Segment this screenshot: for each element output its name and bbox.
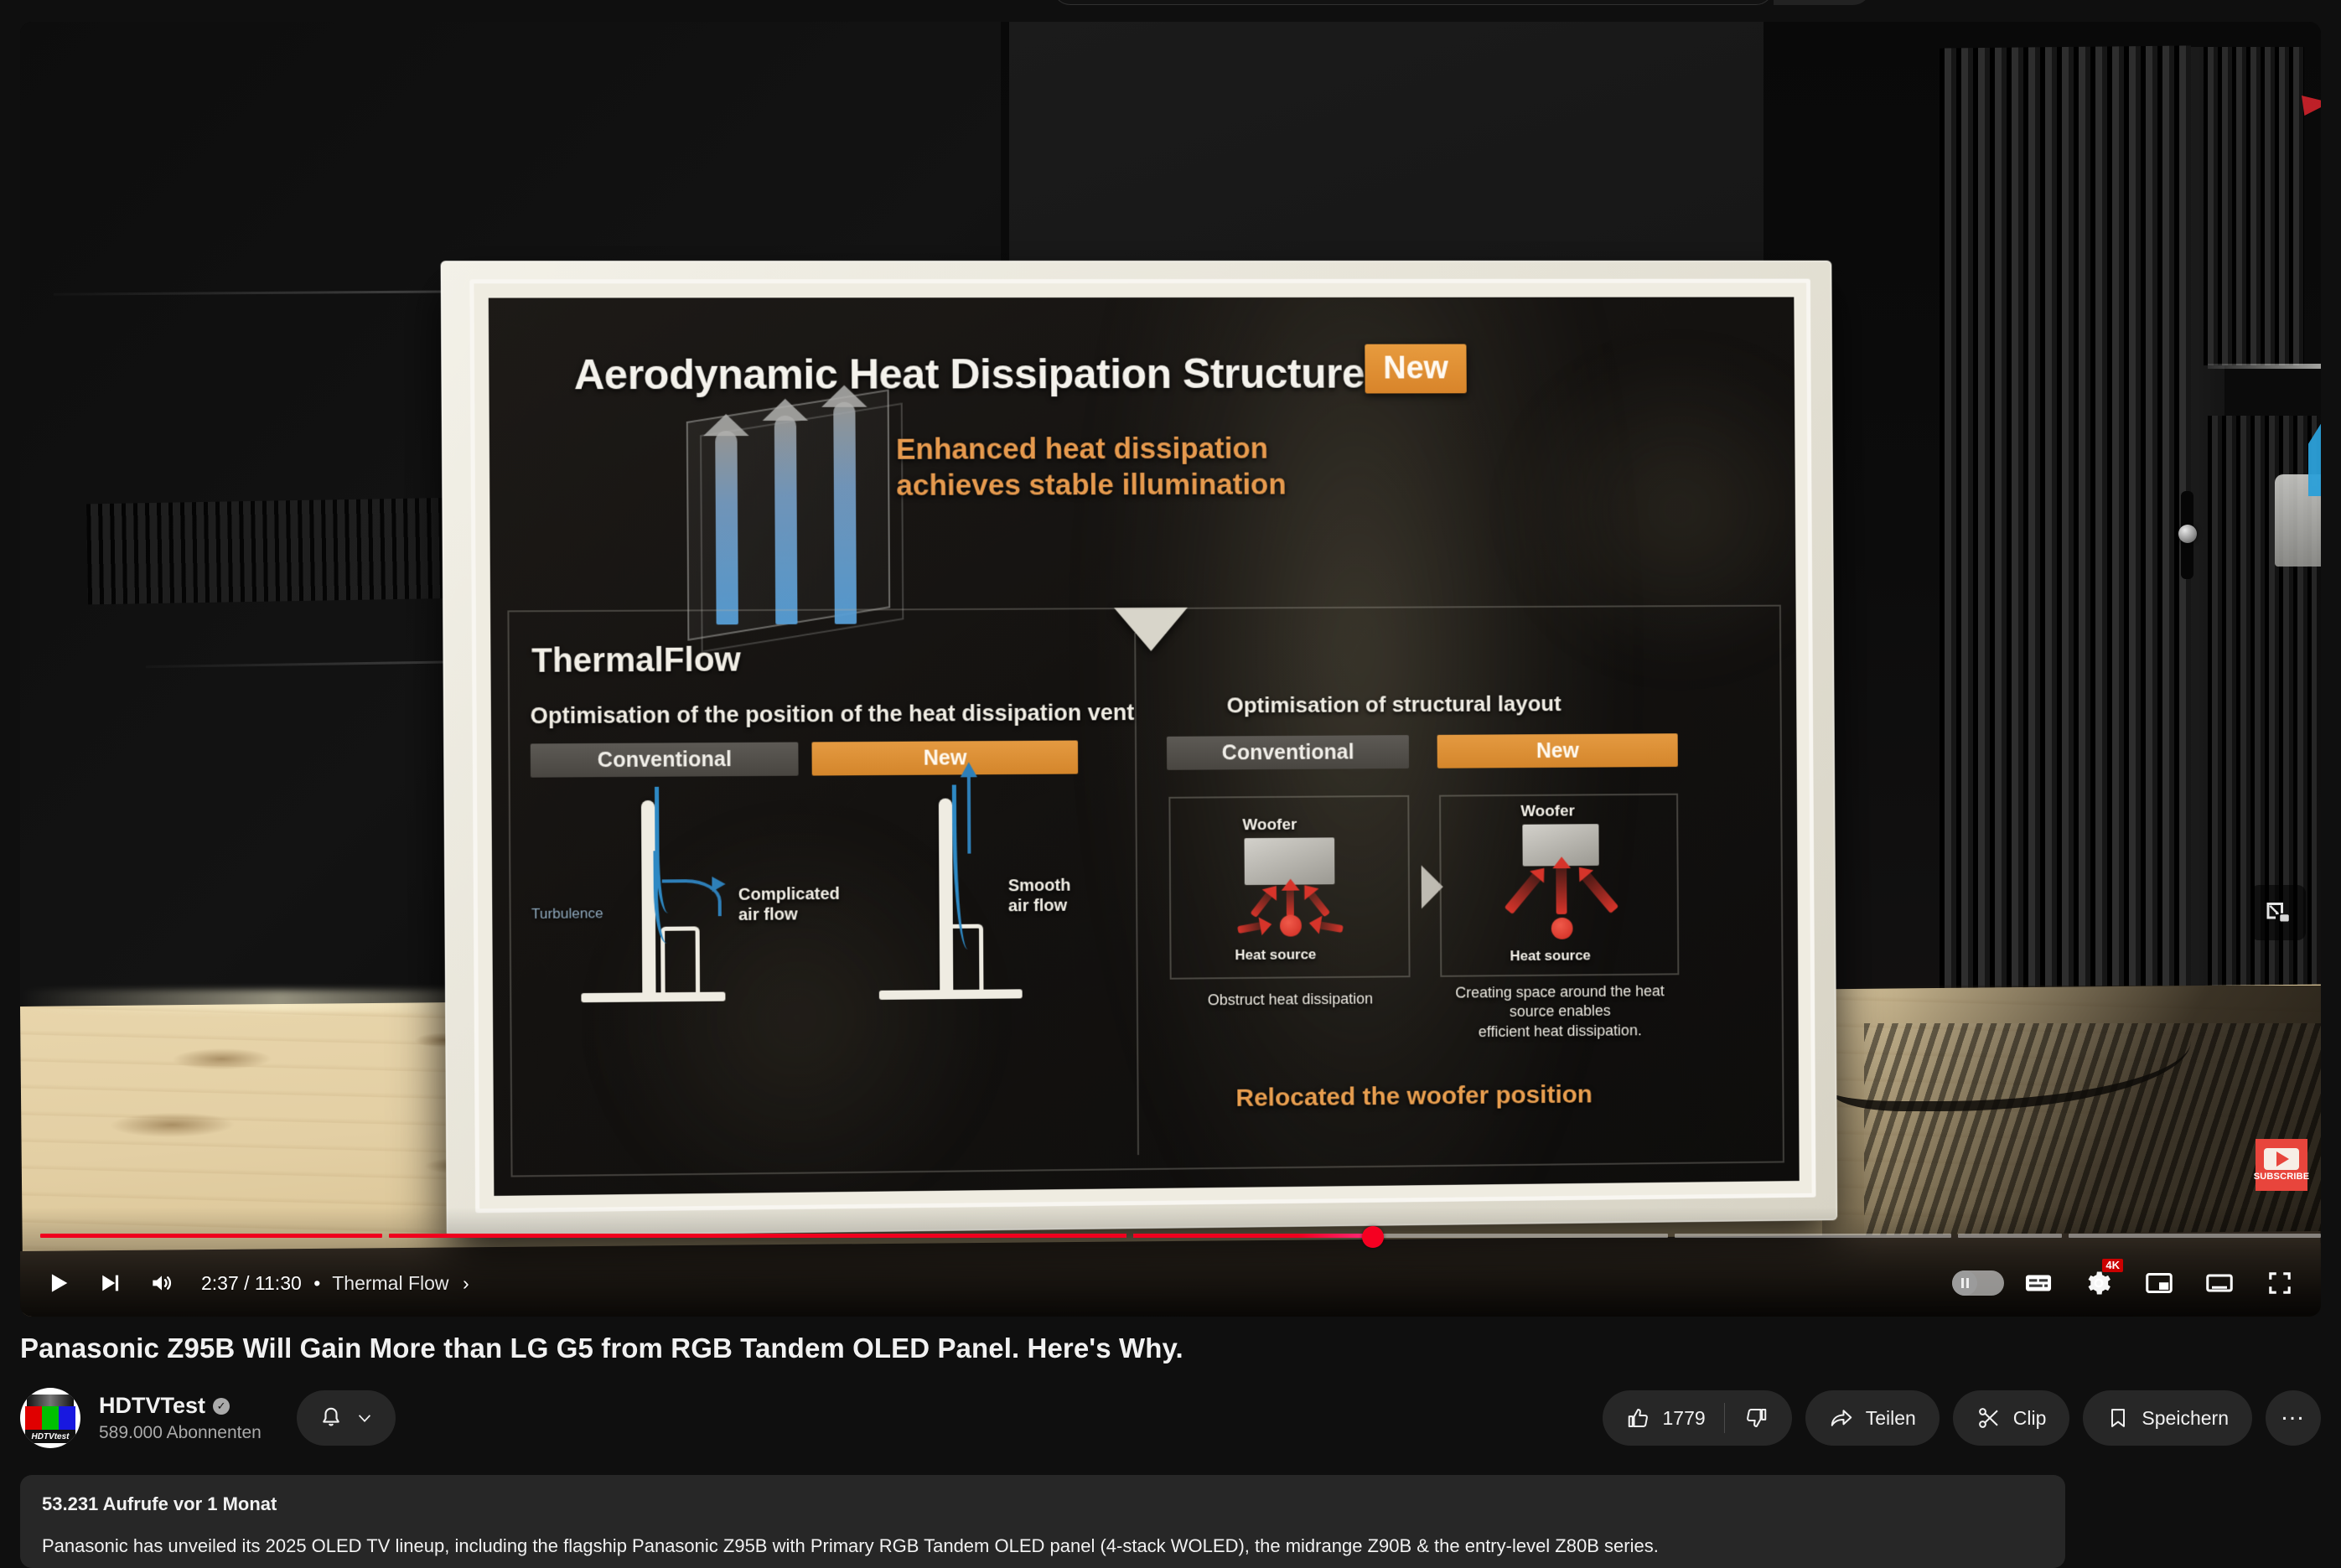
settings-button[interactable]: 4K (2073, 1257, 2125, 1309)
heat-ray (1237, 922, 1263, 934)
more-icon: … (2280, 1398, 2307, 1426)
panel-screw (2178, 525, 2197, 543)
video-frame: Aerodynamic Heat Dissipation Structure N… (20, 22, 2321, 1317)
video-title: Panasonic Z95B Will Gain More than LG G5… (20, 1333, 2321, 1364)
woofer-card-conventional: Woofer Heat source (1168, 795, 1410, 980)
volume-button[interactable] (136, 1257, 188, 1309)
subscriber-count: 589.000 Abonnenten (99, 1423, 262, 1443)
play-icon (2264, 1148, 2299, 1170)
gear-icon (2085, 1269, 2113, 1297)
quality-badge: 4K (2102, 1259, 2123, 1272)
bookmark-icon (2106, 1406, 2130, 1430)
progress-scrubber[interactable] (1362, 1226, 1384, 1248)
airflow-arrow-curved (662, 879, 722, 917)
share-button[interactable]: Teilen (1805, 1390, 1940, 1446)
left-chip-conventional: Conventional (531, 743, 799, 778)
notification-bell-button[interactable] (297, 1390, 396, 1446)
slide-subheading: Enhanced heat dissipation achieves stabl… (896, 432, 1287, 505)
background-ribbed-panel-upper (2204, 47, 2304, 365)
action-buttons: 1779 Teilen Clip (1603, 1386, 2321, 1450)
subheading-line-1: Enhanced heat dissipation (896, 432, 1287, 468)
fullscreen-icon (2266, 1269, 2294, 1297)
airflow-arrow-up (967, 773, 971, 853)
miniplayer-button[interactable] (2133, 1257, 2185, 1309)
heat-flow-graphic (686, 406, 891, 625)
owner-row: HDTVtest HDTVTest ✓ 589.000 Abonnenten (20, 1386, 2321, 1450)
label-turbulence: Turbulence (531, 905, 603, 923)
picture-in-picture-button[interactable] (2250, 885, 2306, 940)
control-button-row: 2:37 / 11:30 • Thermal Flow › (20, 1256, 2321, 1310)
woofer-box (1245, 837, 1335, 885)
share-icon (1829, 1405, 1854, 1431)
relocated-woofer-footer: Relocated the woofer position (1235, 1081, 1593, 1113)
search-input[interactable] (1053, 0, 1774, 5)
share-label: Teilen (1866, 1407, 1916, 1430)
right-section-heading: Optimisation of structural layout (1226, 691, 1561, 718)
progress-segment[interactable] (389, 1234, 1126, 1238)
theater-mode-button[interactable] (2193, 1257, 2245, 1309)
channel-name[interactable]: HDTVTest (99, 1393, 205, 1419)
heat-ray (1556, 866, 1567, 914)
action-divider (1724, 1403, 1725, 1433)
heat-ray (1505, 872, 1542, 914)
caption-new: Creating space around the heat source en… (1440, 981, 1679, 1042)
heat-ray (1287, 888, 1294, 917)
thumbs-up-icon (1626, 1405, 1651, 1431)
pip-icon (2263, 898, 2293, 928)
save-button[interactable]: Speichern (2083, 1390, 2252, 1446)
chevron-down-icon (355, 1409, 374, 1427)
progress-fill (40, 1234, 382, 1238)
more-actions-button[interactable]: … (2266, 1390, 2321, 1446)
slide-content: Aerodynamic Heat Dissipation Structure N… (489, 297, 1800, 1195)
next-video-button[interactable] (84, 1257, 136, 1309)
progress-fill (389, 1234, 1126, 1238)
label-smooth-airflow: Smooth air flow (1008, 877, 1071, 917)
avatar-gray-bar (27, 1395, 74, 1406)
heat-ray (1318, 921, 1344, 933)
chevron-right-icon[interactable]: › (463, 1272, 469, 1294)
progress-segment[interactable] (40, 1234, 382, 1238)
description-text: Panasonic has unveiled its 2025 OLED TV … (42, 1534, 2043, 1560)
tv-base-foot (581, 992, 725, 1003)
heat-source-label: Heat source (1510, 947, 1590, 965)
time-display: 2:37 / 11:30 (201, 1272, 302, 1294)
heat-ray (1581, 871, 1619, 913)
video-player[interactable]: Aerodynamic Heat Dissipation Structure N… (20, 22, 2321, 1317)
subtitles-icon (2022, 1267, 2054, 1299)
woofer-label: Woofer (1520, 802, 1575, 820)
heat-ray (1251, 891, 1274, 918)
progress-segment[interactable] (1958, 1234, 2062, 1238)
verified-badge-icon: ✓ (213, 1398, 230, 1415)
subtitles-button[interactable] (2012, 1257, 2064, 1309)
theater-icon (2204, 1268, 2235, 1298)
fullscreen-button[interactable] (2254, 1257, 2306, 1309)
slide-title-new-badge: New (1365, 344, 1467, 394)
description-box[interactable]: 53.231 Aufrufe vor 1 Monat Panasonic has… (20, 1475, 2065, 1568)
pause-bar (1961, 1278, 1964, 1288)
chapter-separator: • (313, 1272, 320, 1294)
like-count: 1779 (1663, 1407, 1706, 1430)
woofer-card-new: Woofer Heat source (1439, 794, 1679, 977)
thumbs-down-icon[interactable] (1743, 1405, 1769, 1431)
heat-ray (1307, 890, 1330, 917)
woofer-label: Woofer (1242, 816, 1297, 835)
next-icon (97, 1270, 122, 1296)
subscribe-watermark[interactable]: SUBSCRIBE (2256, 1139, 2307, 1191)
right-chip-new: New (1437, 733, 1678, 768)
caption-conventional: Obstruct heat dissipation (1170, 989, 1411, 1011)
channel-info: HDTVTest ✓ 589.000 Abonnenten (99, 1393, 262, 1443)
player-controls: 2:37 / 11:30 • Thermal Flow › (20, 1208, 2321, 1317)
view-count-and-date: 53.231 Aufrufe vor 1 Monat (42, 1493, 2043, 1515)
airflow-arrow (833, 402, 857, 624)
right-chip-conventional: Conventional (1167, 735, 1409, 770)
like-dislike-group[interactable]: 1779 (1603, 1390, 1792, 1446)
autoplay-knob (1952, 1270, 1977, 1296)
slide-title: Aerodynamic Heat Dissipation Structure (574, 349, 1365, 400)
video-metadata: Panasonic Z95B Will Gain More than LG G5… (20, 1333, 2321, 1450)
thermalflow-heading: ThermalFlow (531, 641, 741, 681)
heat-source-dot (1551, 918, 1573, 939)
acrylic-display-board: Aerodynamic Heat Dissipation Structure N… (441, 261, 1838, 1237)
subscribe-watermark-label: SUBSCRIBE (2254, 1172, 2310, 1182)
heat-source-dot (1280, 914, 1302, 936)
label-complicated-airflow: Complicated air flow (738, 885, 840, 925)
channel-avatar[interactable]: HDTVtest (20, 1388, 80, 1448)
volume-icon (148, 1270, 175, 1296)
subheading-line-2: achieves stable illumination (896, 467, 1287, 504)
progress-fill (1133, 1234, 1369, 1238)
clip-button[interactable]: Clip (1953, 1390, 2070, 1446)
play-icon (44, 1269, 72, 1297)
save-label: Speichern (2142, 1407, 2229, 1430)
scissors-icon (1976, 1405, 2002, 1431)
pause-bar (1966, 1278, 1969, 1288)
chapter-title[interactable]: Thermal Flow (332, 1272, 448, 1294)
channel-name-row[interactable]: HDTVTest ✓ (99, 1393, 262, 1419)
tv-base-foot (879, 989, 1023, 1000)
clip-label: Clip (2013, 1407, 2047, 1430)
autoplay-toggle[interactable] (1952, 1257, 2004, 1309)
airflow-arrow (715, 431, 738, 624)
search-button[interactable] (1774, 0, 1871, 5)
progress-segment[interactable] (1133, 1234, 1668, 1238)
bell-icon (319, 1405, 344, 1431)
progress-bar[interactable] (20, 1231, 2321, 1239)
left-chip-new: New (811, 740, 1078, 775)
left-section-heading: Optimisation of the position of the heat… (530, 700, 1134, 729)
miniplayer-icon (2144, 1268, 2174, 1298)
play-pause-button[interactable] (32, 1257, 84, 1309)
browser-top-edge (0, 0, 2341, 22)
time-and-chapter: 2:37 / 11:30 • Thermal Flow › (201, 1272, 469, 1295)
autoplay-switch[interactable] (1952, 1270, 2004, 1296)
right-controls: 4K (1952, 1256, 2306, 1310)
progress-segment[interactable] (2069, 1234, 2321, 1238)
avatar-color-bars (25, 1406, 75, 1430)
play-triangle (2276, 1151, 2289, 1167)
airflow-arrow (774, 416, 798, 624)
progress-segment[interactable] (1675, 1234, 1951, 1238)
heat-source-label: Heat source (1235, 946, 1316, 964)
panel-highlight (2208, 364, 2321, 369)
background-ribbed-panel (1940, 45, 2191, 1045)
avatar-label: HDTVtest (25, 1430, 75, 1443)
